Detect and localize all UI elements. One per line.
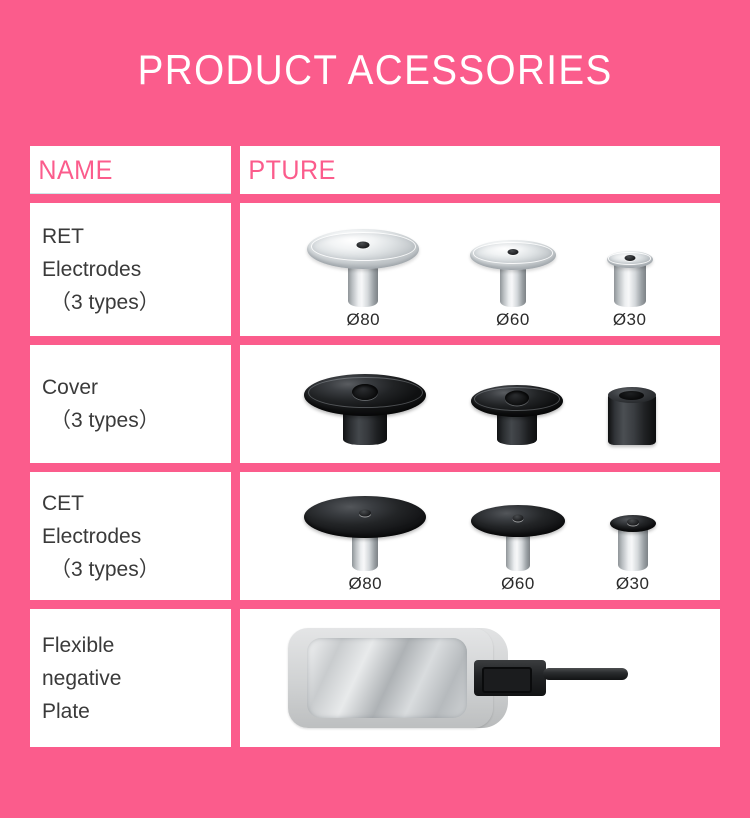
- ret-name-line-3: （3 types）: [42, 286, 231, 319]
- plate-metal-surface-icon: [307, 638, 467, 718]
- ret-name-line-1: RET: [42, 225, 84, 248]
- table-header-row: NAME PTURE: [30, 146, 720, 194]
- plate-name-line-1: Flexible: [42, 634, 114, 657]
- electrode-hole-icon: [627, 518, 639, 525]
- electrode-hole-icon: [359, 509, 371, 516]
- row-picture-cell-cet: Ø80 Ø60: [240, 472, 720, 600]
- ret-item-group: Ø80 Ø60: [240, 203, 720, 336]
- cover-disc-icon: [304, 374, 426, 416]
- flexible-negative-plate-art: [288, 622, 608, 734]
- cet-name-line-3: （3 types）: [42, 553, 231, 586]
- cover-small-art: [608, 383, 656, 445]
- table-row: Flexible negative Plate: [30, 609, 720, 747]
- cover-large-art: [304, 374, 426, 445]
- cet-item-30: Ø30: [610, 515, 656, 594]
- ret-electrode-30-art: [607, 251, 653, 307]
- header-label-picture: PTURE: [240, 146, 686, 194]
- cover-item-medium: [471, 385, 563, 445]
- ret-item-30: Ø30: [607, 251, 653, 330]
- cover-hole-icon: [505, 391, 529, 406]
- row-name-label-cover: Cover （3 types）: [30, 371, 231, 437]
- page-title-bar: PRODUCT ACESSORIES: [0, 0, 750, 140]
- cover-item-small: [608, 383, 656, 445]
- ret-item-60: Ø60: [470, 240, 556, 330]
- cet-name-line-2: Electrodes: [42, 525, 141, 548]
- ret-size-label-30: Ø30: [613, 310, 647, 330]
- ret-size-label-80: Ø80: [347, 310, 381, 330]
- electrode-disc-icon: [470, 240, 556, 270]
- electrode-hole-icon: [624, 255, 635, 261]
- cover-item-large: [304, 374, 426, 445]
- page-title: PRODUCT ACESSORIES: [137, 46, 612, 94]
- cet-item-60: Ø60: [471, 505, 565, 594]
- plate-connector-icon: [474, 660, 546, 696]
- ret-electrode-60-art: [470, 240, 556, 307]
- cet-electrode-30-art: [610, 515, 656, 571]
- cover-medium-art: [471, 385, 563, 445]
- plate-name-line-3: Plate: [42, 700, 90, 723]
- row-picture-cell-cover: [240, 345, 720, 463]
- header-cell-name: NAME: [30, 146, 231, 194]
- cet-size-label-60: Ø60: [501, 574, 535, 594]
- cover-item-group: [240, 345, 720, 463]
- ret-name-line-2: Electrodes: [42, 258, 141, 281]
- electrode-hole-icon: [512, 514, 523, 521]
- cet-name-line-1: CET: [42, 492, 84, 515]
- cover-barrel-icon: [608, 393, 656, 445]
- electrode-disc-icon: [607, 251, 653, 268]
- row-name-label-cet: CET Electrodes （3 types）: [30, 487, 231, 586]
- table-row: CET Electrodes （3 types） Ø80: [30, 472, 720, 600]
- table-row: Cover （3 types）: [30, 345, 720, 463]
- ret-electrode-80-art: [307, 229, 419, 307]
- cet-size-label-80: Ø80: [349, 574, 383, 594]
- row-name-cell-cover: Cover （3 types）: [30, 345, 231, 463]
- cet-item-group: Ø80 Ø60: [240, 472, 720, 600]
- plate-cable-icon: [543, 668, 628, 680]
- electrode-disc-icon: [304, 496, 426, 538]
- cet-electrode-60-art: [471, 505, 565, 571]
- row-name-cell-cet: CET Electrodes （3 types）: [30, 472, 231, 600]
- cover-barrel-rim-icon: [608, 387, 656, 403]
- row-name-label-ret: RET Electrodes （3 types）: [30, 220, 231, 319]
- cover-hole-icon: [352, 384, 378, 400]
- row-picture-cell-plate: [240, 609, 720, 747]
- electrode-disc-icon: [471, 505, 565, 537]
- cover-disc-icon: [471, 385, 563, 417]
- cet-electrode-80-art: [304, 496, 426, 571]
- electrode-hole-icon: [507, 249, 518, 255]
- header-cell-picture: PTURE: [240, 146, 720, 194]
- accessories-table: NAME PTURE RET Electrodes （3 types）: [30, 146, 720, 747]
- cet-item-80: Ø80: [304, 496, 426, 594]
- table-row: RET Electrodes （3 types） Ø80: [30, 203, 720, 336]
- electrode-stem-icon: [348, 263, 378, 307]
- electrode-stem-icon: [500, 265, 526, 307]
- electrode-stem-icon: [506, 531, 530, 571]
- ret-item-80: Ø80: [307, 229, 419, 330]
- electrode-disc-icon: [307, 229, 419, 269]
- electrode-stem-icon: [618, 527, 648, 571]
- row-picture-cell-ret: Ø80 Ø60: [240, 203, 720, 336]
- cover-name-line-1: Cover: [42, 376, 98, 399]
- electrode-hole-icon: [357, 242, 370, 249]
- cet-size-label-30: Ø30: [616, 574, 650, 594]
- ret-size-label-60: Ø60: [496, 310, 530, 330]
- header-label-name: NAME: [30, 146, 217, 194]
- electrode-disc-icon: [610, 515, 656, 532]
- header-underline-name: [30, 193, 231, 194]
- row-name-cell-plate: Flexible negative Plate: [30, 609, 231, 747]
- electrode-stem-icon: [614, 263, 646, 307]
- row-name-label-plate: Flexible negative Plate: [30, 629, 231, 728]
- row-name-cell-ret: RET Electrodes （3 types）: [30, 203, 231, 336]
- cover-name-line-2: （3 types）: [42, 404, 231, 437]
- plate-name-line-2: negative: [42, 667, 121, 690]
